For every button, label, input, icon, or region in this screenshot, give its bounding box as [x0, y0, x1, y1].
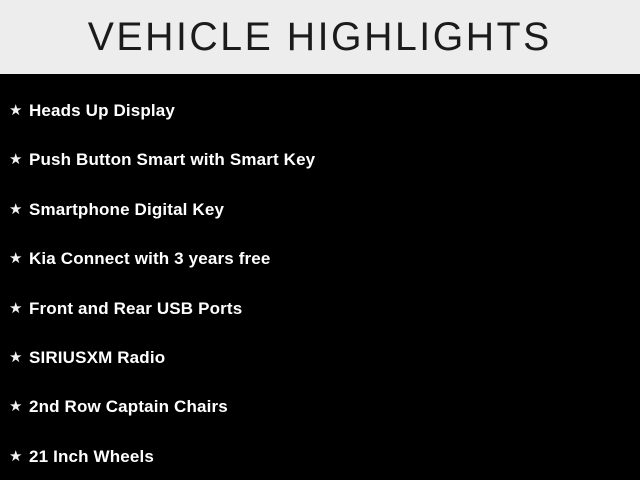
- star-icon: ★: [9, 249, 29, 269]
- highlight-item-label: Smartphone Digital Key: [29, 199, 224, 221]
- highlight-item: ★21 Inch Wheels: [0, 444, 640, 470]
- star-icon: ★: [9, 299, 29, 319]
- highlight-item: ★Push Button Smart with Smart Key: [0, 147, 640, 173]
- highlight-item: ★Kia Connect with 3 years free: [0, 246, 640, 272]
- star-icon: ★: [9, 447, 29, 467]
- highlight-item-label: Push Button Smart with Smart Key: [29, 149, 315, 171]
- highlight-item: ★Heads Up Display: [0, 98, 640, 124]
- vehicle-highlights-slide: Vehicle Highlights ★Heads Up Display★Pus…: [0, 0, 640, 480]
- highlight-item-label: SIRIUSXM Radio: [29, 347, 165, 369]
- highlight-item: ★2nd Row Captain Chairs: [0, 394, 640, 420]
- page-title: Vehicle Highlights: [88, 15, 552, 59]
- star-icon: ★: [9, 200, 29, 220]
- highlight-item: ★SIRIUSXM Radio: [0, 345, 640, 371]
- highlight-item: ★Smartphone Digital Key: [0, 197, 640, 223]
- slide-header: Vehicle Highlights: [0, 0, 640, 74]
- highlight-item-label: Front and Rear USB Ports: [29, 298, 242, 320]
- highlight-item-label: 21 Inch Wheels: [29, 446, 154, 468]
- star-icon: ★: [9, 150, 29, 170]
- highlights-list: ★Heads Up Display★Push Button Smart with…: [0, 74, 640, 480]
- highlight-item-label: Heads Up Display: [29, 100, 175, 122]
- star-icon: ★: [9, 348, 29, 368]
- highlight-item-label: 2nd Row Captain Chairs: [29, 396, 228, 418]
- highlight-item-label: Kia Connect with 3 years free: [29, 248, 271, 270]
- star-icon: ★: [9, 101, 29, 121]
- star-icon: ★: [9, 397, 29, 417]
- highlight-item: ★Front and Rear USB Ports: [0, 296, 640, 322]
